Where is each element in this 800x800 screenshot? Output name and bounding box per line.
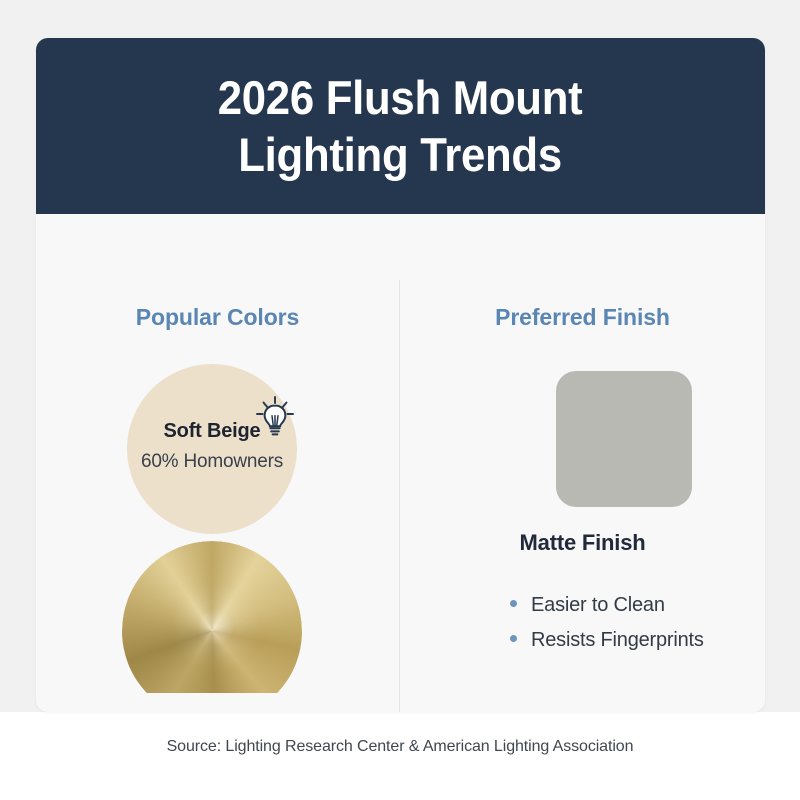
card-body: Popular Colors Soft Beige 60% Homowners xyxy=(36,214,765,712)
page-title: 2026 Flush Mount Lighting Trends xyxy=(218,69,583,184)
infographic-canvas: 2026 Flush Mount Lighting Trends Popular… xyxy=(0,0,800,800)
section-heading-preferred-finish: Preferred Finish xyxy=(400,304,765,331)
footer-background xyxy=(0,712,800,800)
matte-finish-swatch[interactable] xyxy=(556,371,692,507)
soft-beige-circle xyxy=(127,364,297,534)
list-item: Resists Fingerprints xyxy=(510,629,704,652)
bullet-dot-icon xyxy=(510,635,517,642)
matte-finish-label: Matte Finish xyxy=(400,530,765,556)
matte-finish-benefits: Easier to Clean Resists Fingerprints xyxy=(510,594,704,664)
muted-gold-circle xyxy=(122,541,302,712)
benefit-label: Easier to Clean xyxy=(531,594,665,617)
card-header: 2026 Flush Mount Lighting Trends xyxy=(36,38,765,214)
soft-beige-stat: 60% Homowners xyxy=(115,451,309,473)
column-popular-colors: Popular Colors Soft Beige 60% Homowners xyxy=(36,214,399,331)
infographic-card: 2026 Flush Mount Lighting Trends Popular… xyxy=(36,38,765,712)
column-preferred-finish: Preferred Finish Matte Finish Easier to … xyxy=(400,214,765,331)
section-heading-popular-colors: Popular Colors xyxy=(36,304,399,331)
column-divider xyxy=(399,280,400,712)
swatch-muted-gold[interactable]: Muted Gold xyxy=(122,541,302,712)
bullet-dot-icon xyxy=(510,600,517,607)
lightbulb-rays-icon xyxy=(252,394,298,440)
list-item: Easier to Clean xyxy=(510,594,704,617)
source-attribution: Source: Lighting Research Center & Ameri… xyxy=(0,738,800,756)
swatch-soft-beige[interactable]: Soft Beige 60% Homowners xyxy=(127,364,297,534)
benefit-label: Resists Fingerprints xyxy=(531,629,704,652)
